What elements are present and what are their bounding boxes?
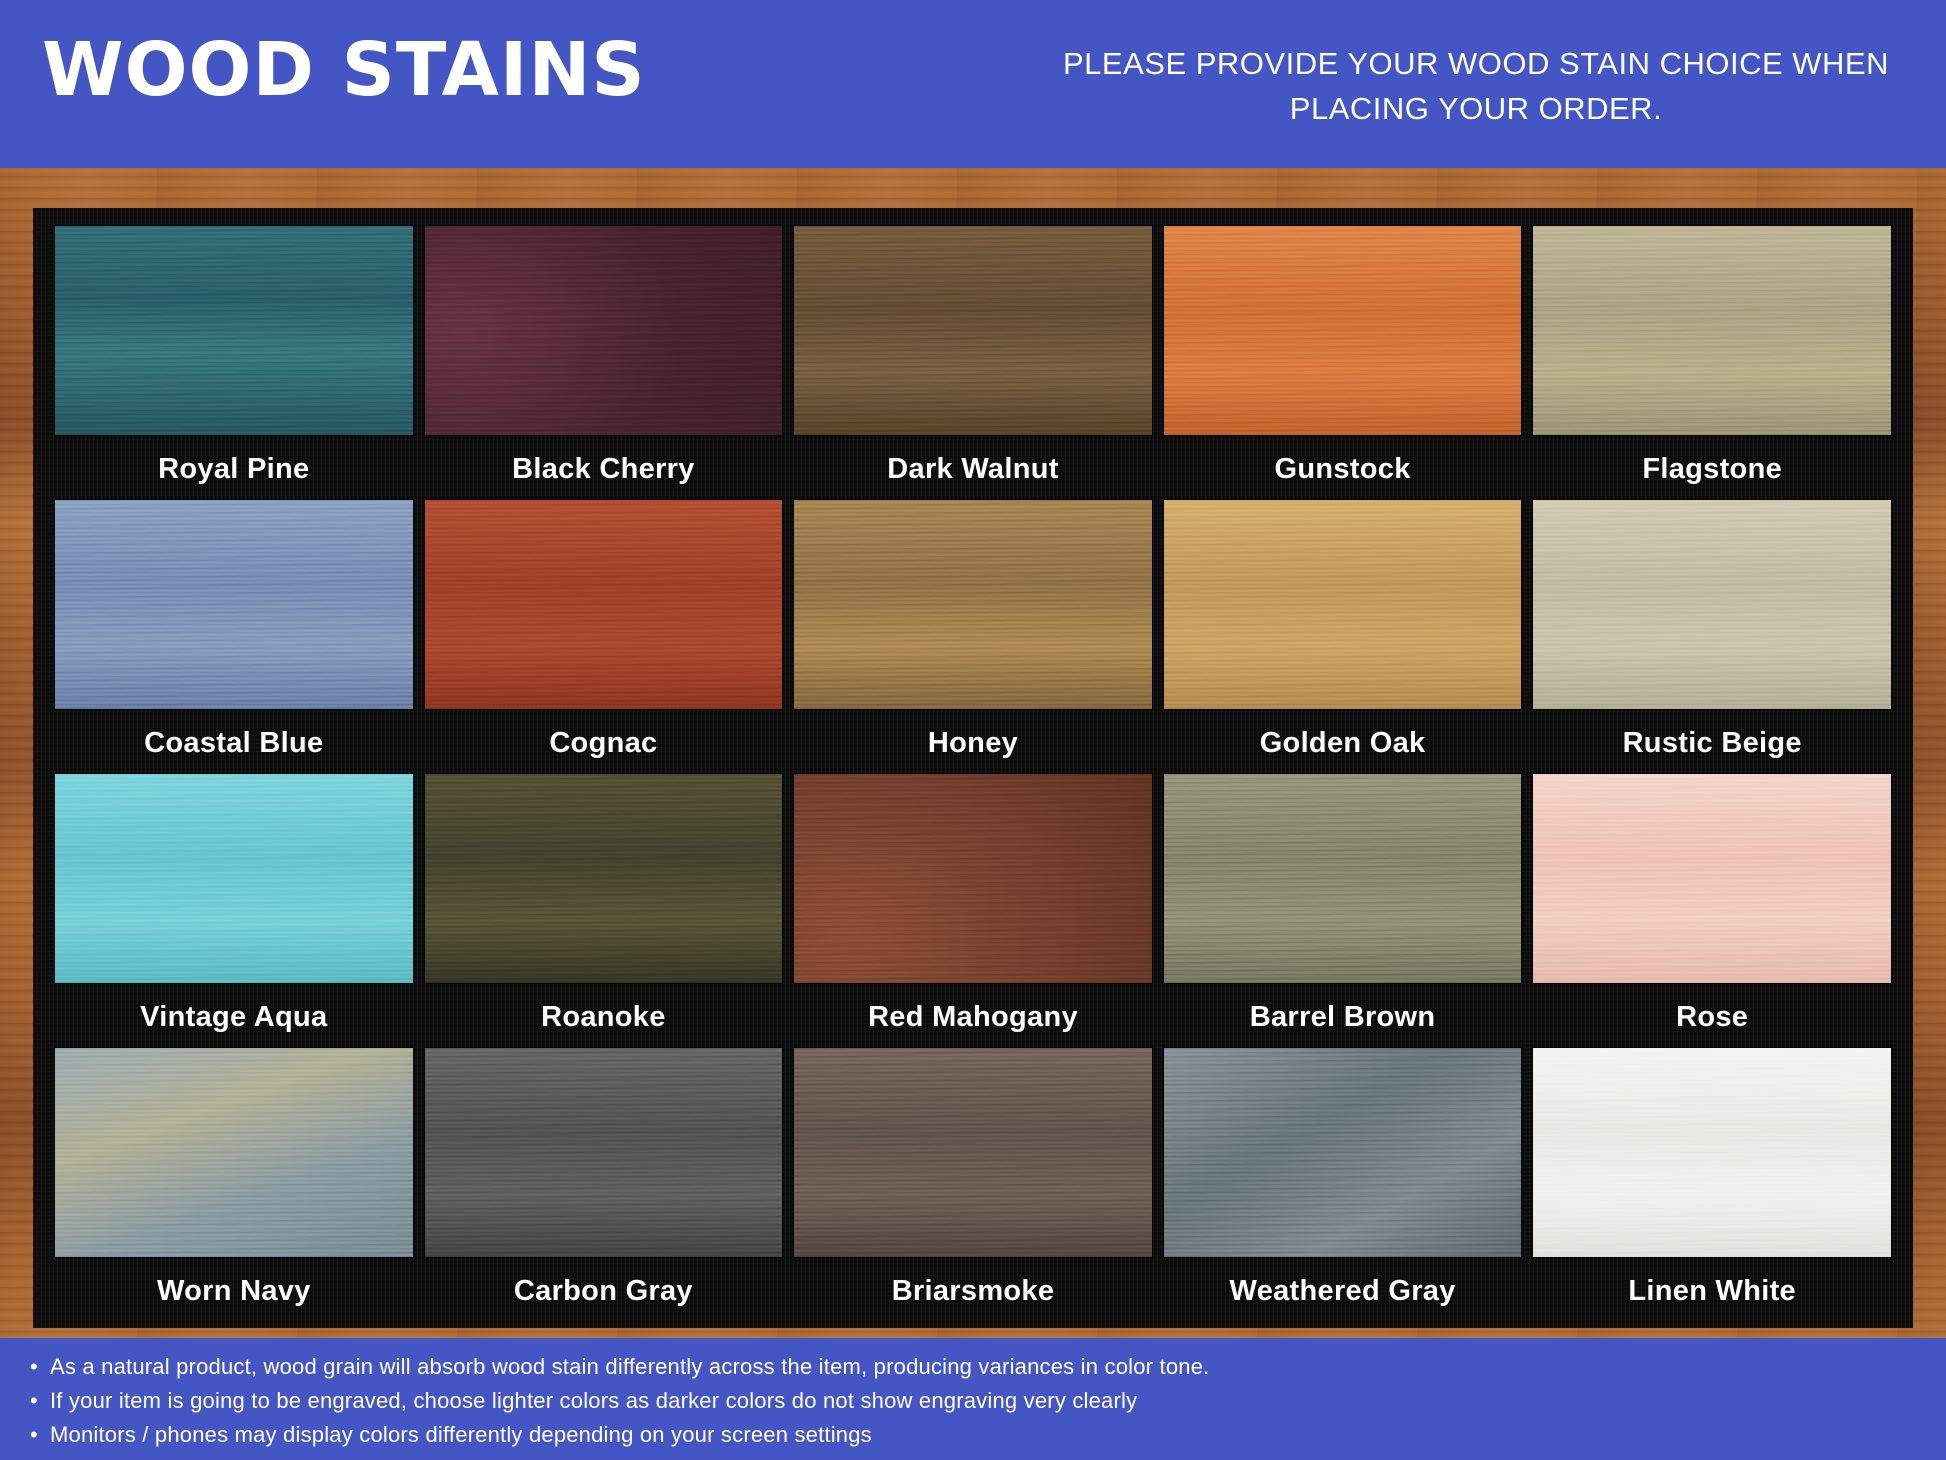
swatch-cell[interactable]: Red Mahogany — [788, 768, 1158, 1042]
bullet-icon: • — [30, 1384, 50, 1418]
swatch-color-roanoke[interactable] — [425, 774, 783, 983]
swatch-cell[interactable]: Rose — [1527, 768, 1897, 1042]
swatch-label: Honey — [788, 727, 1158, 760]
swatch-color-honey[interactable] — [794, 500, 1152, 709]
swatch-label: Rustic Beige — [1527, 727, 1897, 760]
swatch-color-rustic-beige[interactable] — [1533, 500, 1891, 709]
swatch-cell[interactable]: Carbon Gray — [419, 1042, 789, 1316]
wood-stain-chart: WOOD STAINS PLEASE PROVIDE YOUR WOOD STA… — [0, 0, 1946, 1460]
footer-bullet-line: •As a natural product, wood grain will a… — [30, 1350, 1946, 1384]
swatch-cell[interactable]: Vintage Aqua — [49, 768, 419, 1042]
footer-text: As a natural product, wood grain will ab… — [50, 1354, 1209, 1379]
swatch-color-weathered-gray[interactable] — [1164, 1048, 1522, 1257]
swatch-color-black-cherry[interactable] — [425, 226, 783, 435]
swatch-cell[interactable]: Roanoke — [419, 768, 789, 1042]
swatch-cell[interactable]: Barrel Brown — [1158, 768, 1528, 1042]
swatch-label: Roanoke — [419, 1001, 789, 1034]
swatch-label: Black Cherry — [419, 453, 789, 486]
swatch-label: Vintage Aqua — [49, 1001, 419, 1034]
swatch-cell[interactable]: Coastal Blue — [49, 494, 419, 768]
swatch-label: Golden Oak — [1158, 727, 1528, 760]
swatch-label: Barrel Brown — [1158, 1001, 1528, 1034]
swatch-color-coastal-blue[interactable] — [55, 500, 413, 709]
swatch-cell[interactable]: Royal Pine — [49, 220, 419, 494]
swatch-label: Cognac — [419, 727, 789, 760]
swatch-cell[interactable]: Worn Navy — [49, 1042, 419, 1316]
swatch-color-barrel-brown[interactable] — [1164, 774, 1522, 983]
swatch-cell[interactable]: Dark Walnut — [788, 220, 1158, 494]
swatch-label: Carbon Gray — [419, 1275, 789, 1308]
footer-disclaimers: •As a natural product, wood grain will a… — [0, 1338, 1946, 1460]
swatch-label: Linen White — [1527, 1275, 1897, 1308]
swatch-color-worn-navy[interactable] — [55, 1048, 413, 1257]
swatch-cell[interactable]: Black Cherry — [419, 220, 789, 494]
swatch-color-cognac[interactable] — [425, 500, 783, 709]
swatch-cell[interactable]: Weathered Gray — [1158, 1042, 1528, 1316]
swatch-cell[interactable]: Golden Oak — [1158, 494, 1528, 768]
swatch-label: Royal Pine — [49, 453, 419, 486]
swatch-cell[interactable]: Honey — [788, 494, 1158, 768]
swatch-color-red-mahogany[interactable] — [794, 774, 1152, 983]
swatch-cell[interactable]: Linen White — [1527, 1042, 1897, 1316]
swatch-color-royal-pine[interactable] — [55, 226, 413, 435]
swatch-color-vintage-aqua[interactable] — [55, 774, 413, 983]
footer-text: If your item is going to be engraved, ch… — [50, 1388, 1137, 1413]
bullet-icon: • — [30, 1418, 50, 1452]
swatch-color-linen-white[interactable] — [1533, 1048, 1891, 1257]
swatch-color-gunstock[interactable] — [1164, 226, 1522, 435]
footer-bullet-line: •Monitors / phones may display colors di… — [30, 1418, 1946, 1452]
swatch-color-carbon-gray[interactable] — [425, 1048, 783, 1257]
swatch-label: Rose — [1527, 1001, 1897, 1034]
footer-text: Monitors / phones may display colors dif… — [50, 1422, 872, 1447]
footer-bullet-line: •If your item is going to be engraved, c… — [30, 1384, 1946, 1418]
swatch-grid: Royal PineBlack CherryDark WalnutGunstoc… — [49, 220, 1897, 1316]
swatch-label: Gunstock — [1158, 453, 1528, 486]
swatch-cell[interactable]: Gunstock — [1158, 220, 1528, 494]
swatch-color-golden-oak[interactable] — [1164, 500, 1522, 709]
header-instruction: PLEASE PROVIDE YOUR WOOD STAIN CHOICE WH… — [1036, 42, 1916, 132]
swatch-label: Weathered Gray — [1158, 1275, 1528, 1308]
swatch-board: Royal PineBlack CherryDark WalnutGunstoc… — [33, 208, 1913, 1328]
swatch-color-dark-walnut[interactable] — [794, 226, 1152, 435]
swatch-color-briarsmoke[interactable] — [794, 1048, 1152, 1257]
header-banner: WOOD STAINS PLEASE PROVIDE YOUR WOOD STA… — [0, 0, 1946, 168]
swatch-label: Dark Walnut — [788, 453, 1158, 486]
swatch-cell[interactable]: Flagstone — [1527, 220, 1897, 494]
swatch-label: Worn Navy — [49, 1275, 419, 1308]
swatch-cell[interactable]: Cognac — [419, 494, 789, 768]
swatch-label: Red Mahogany — [788, 1001, 1158, 1034]
swatch-label: Coastal Blue — [49, 727, 419, 760]
swatch-cell[interactable]: Rustic Beige — [1527, 494, 1897, 768]
bullet-icon: • — [30, 1350, 50, 1384]
swatch-color-rose[interactable] — [1533, 774, 1891, 983]
swatch-color-flagstone[interactable] — [1533, 226, 1891, 435]
swatch-label: Flagstone — [1527, 453, 1897, 486]
swatch-label: Briarsmoke — [788, 1275, 1158, 1308]
page-title: WOOD STAINS — [42, 27, 646, 113]
swatch-cell[interactable]: Briarsmoke — [788, 1042, 1158, 1316]
